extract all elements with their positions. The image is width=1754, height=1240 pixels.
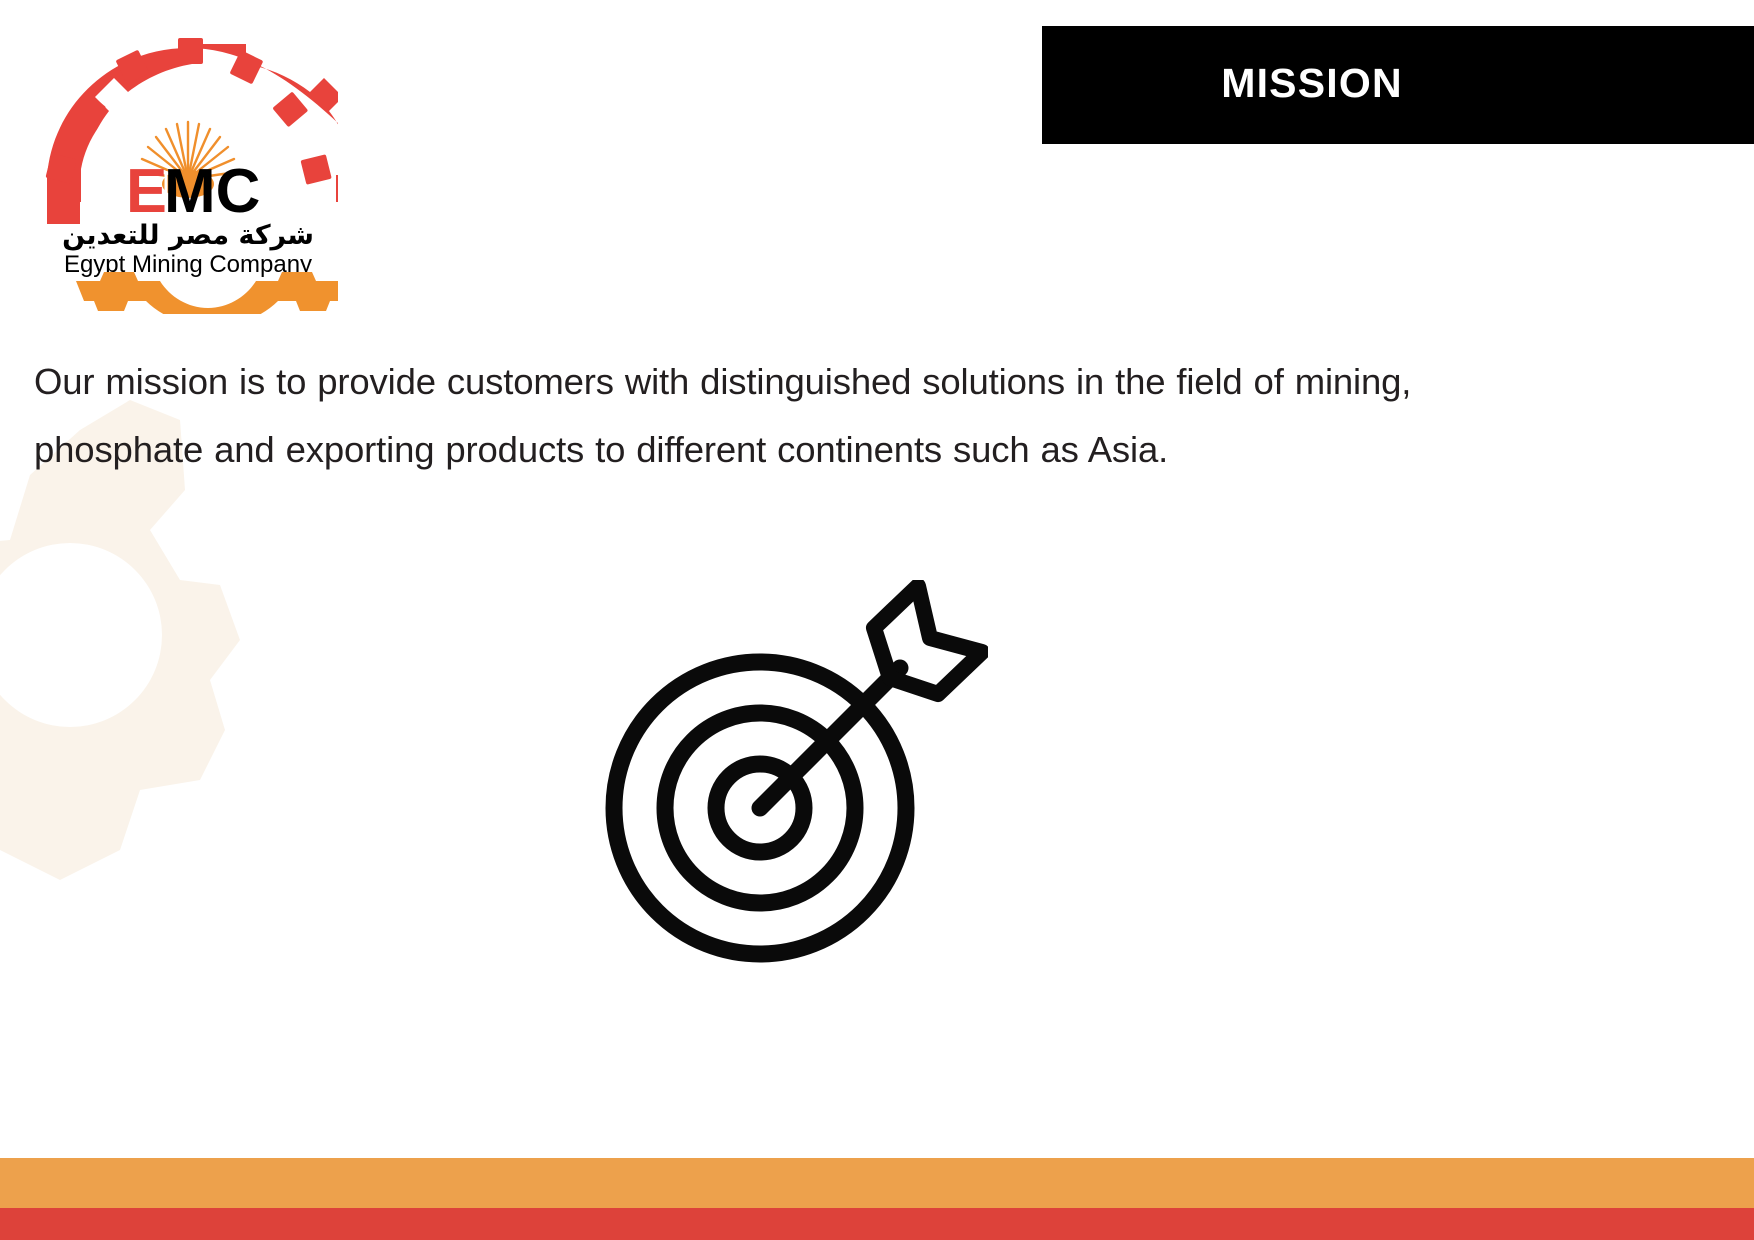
logo-letter-e: E	[126, 157, 167, 226]
logo-english-name: Egypt Mining Company	[64, 251, 312, 278]
footer-bar-orange	[0, 1158, 1754, 1208]
footer-bar-red	[0, 1208, 1754, 1240]
logo-arabic-name: شركة مصر للتعدين	[62, 220, 314, 251]
logo-letters-mc: MC	[164, 157, 260, 226]
logo-gear-bottom	[76, 272, 338, 314]
mission-title-label: MISSION	[1221, 60, 1403, 107]
mission-title-banner: MISSION	[1042, 26, 1754, 144]
target-with-arrow-icon	[588, 580, 988, 980]
mission-paragraph: Our mission is to provide customers with…	[34, 348, 1514, 484]
company-logo: E MC شركة مصر للتعدين Egypt Mining Compa…	[38, 34, 338, 314]
slide-canvas: E MC شركة مصر للتعدين Egypt Mining Compa…	[0, 0, 1754, 1240]
